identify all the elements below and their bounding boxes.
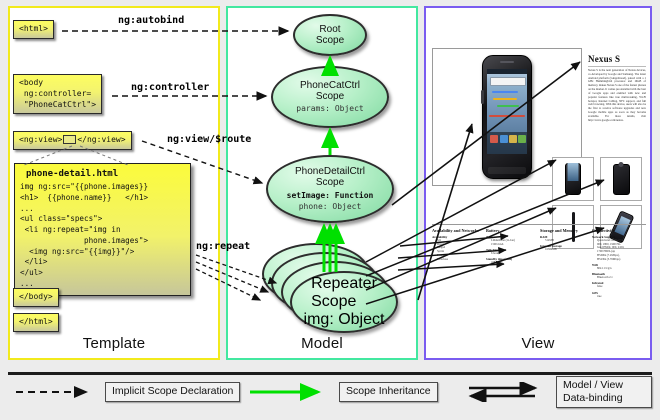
tag-ngview-open: <ng:view> <box>19 135 62 144</box>
phone-app-icon-3 <box>509 135 517 143</box>
specs-heading: Storage and Memory <box>540 228 592 233</box>
phone-status-bar <box>487 69 527 74</box>
phone-app-icon-4 <box>518 135 526 143</box>
specs-value: HSUPA (5.76Mbps) <box>592 258 646 262</box>
edge-label-ng-repeat: ng:repeat <box>196 241 250 252</box>
template-file-note: phone-detail.html img ng:src="{{phone.im… <box>14 163 191 296</box>
edge-label-ng-view-route: ng:view/$route <box>167 134 251 145</box>
phone-wallpaper-line-3 <box>497 105 519 107</box>
scope-phonedetailctrl: PhoneDetailCtrlScope setImage: Function … <box>266 155 394 223</box>
legend: Implicit Scope Declaration Scope Inherit… <box>8 381 652 407</box>
specs-value: 1500 mAh <box>486 243 538 247</box>
legend-label-scope-inheritance: Scope Inheritance <box>339 382 438 401</box>
legend-label-data-binding: Model / View Data-binding <box>556 376 652 408</box>
scope-phonecatctrl: PhoneCatCtrlScope params: Object <box>271 66 389 128</box>
phone-hardware-keys <box>488 167 526 174</box>
legend-item-implicit-scope: Implicit Scope Declaration <box>12 381 240 403</box>
diagram-canvas: Template Model View <html> <body ng:cont… <box>0 0 660 420</box>
phone-screen <box>487 69 527 154</box>
specs-heading: Availability and Networks <box>432 228 484 233</box>
view-specs-table: Availability and Networks Availability M… <box>432 228 646 338</box>
phone-device-illustration <box>482 55 532 179</box>
specs-value: true <box>592 295 646 299</box>
template-file-code: img ng:src="{{phone.images}} <h1> {{phon… <box>20 182 185 290</box>
view-title-divider <box>588 66 646 67</box>
legend-dashed-arrow-icon <box>12 382 98 402</box>
scope-phonedetailctrl-prop-setimage: setImage: Function <box>287 191 374 201</box>
legend-item-scope-inheritance: Scope Inheritance <box>246 381 438 403</box>
scope-repeater: RepeaterScope img: Object <box>290 271 398 333</box>
legend-solid-green-arrow-icon <box>246 382 332 402</box>
view-rendered-page: Nexus S Nexus S is the next generation o… <box>432 14 646 344</box>
thumbnail-back-icon <box>613 164 630 195</box>
legend-divider <box>8 372 652 375</box>
phone-search-widget <box>490 77 526 86</box>
scope-root: RootScope <box>293 14 367 56</box>
specs-column-storage: Storage and Memory RAM 512MB Internal St… <box>540 228 592 252</box>
specs-value: 428 hours <box>486 261 538 265</box>
legend-item-data-binding: Model / View Data-binding <box>463 381 652 403</box>
specs-divider <box>432 224 646 225</box>
edge-label-ng-controller: ng:controller <box>131 82 209 93</box>
column-label-template: Template <box>10 335 218 352</box>
scope-repeater-stack: RepeaterScope img: Object <box>262 243 398 339</box>
thumbnail-front-icon <box>565 163 581 195</box>
specs-value: false <box>592 285 646 289</box>
phone-app-dock <box>487 132 527 154</box>
legend-double-arrow-icon <box>463 382 549 402</box>
phone-wallpaper-line-4 <box>489 115 525 117</box>
scope-phonedetailctrl-prop-phone: phone: Object <box>299 202 362 212</box>
tag-body-close: </body> <box>13 288 59 307</box>
tag-html-close: </html> <box>13 313 59 332</box>
scope-phonecatctrl-label: PhoneCatCtrlScope <box>300 80 360 102</box>
phone-app-icon-1 <box>490 135 498 143</box>
scope-phonedetailctrl-label: PhoneDetailCtrlScope <box>295 166 365 188</box>
phone-speaker-icon <box>500 61 514 63</box>
scope-repeater-prop-img: img: Object <box>304 311 385 329</box>
view-phone-title: Nexus S <box>588 54 620 64</box>
tag-ngview-close: </ng:view> <box>77 135 125 144</box>
ngview-slot-icon <box>63 135 76 144</box>
specs-value: 16384MB <box>540 248 592 252</box>
phone-side-button <box>481 90 484 104</box>
view-phone-description: Nexus S is the next generation of Nexus … <box>588 69 646 123</box>
specs-value: Bluetooth 2.1 <box>592 276 646 280</box>
tag-body-open: <body ng:controller= "PhoneCatCtrl"> <box>13 74 102 114</box>
scope-repeater-label: RepeaterScope <box>311 275 377 311</box>
scope-phonecatctrl-prop-params: params: Object <box>296 104 363 114</box>
tag-html-open: <html> <box>13 20 54 39</box>
template-file-name: phone-detail.html <box>26 169 185 179</box>
scope-root-label: RootScope <box>316 24 344 46</box>
specs-column-connectivity: Connectivity Network Support Quad-band G… <box>592 228 646 298</box>
specs-value: 802.11 b/g/n <box>592 267 646 271</box>
specs-heading: Battery <box>486 228 538 233</box>
specs-heading: Connectivity <box>592 228 646 233</box>
specs-column-battery: Battery Type Lithium Ion (Li-Ion) 1500 m… <box>486 228 538 265</box>
specs-value: Vodafone <box>432 258 484 262</box>
specs-value: 6 hours <box>486 252 538 256</box>
legend-label-implicit-scope: Implicit Scope Declaration <box>105 382 240 401</box>
view-thumbnail-phone-back[interactable] <box>600 157 642 201</box>
view-thumbnail-phone-front[interactable] <box>552 157 594 201</box>
edge-label-ng-autobind: ng:autobind <box>118 15 184 26</box>
phone-app-icon-2 <box>500 135 508 143</box>
specs-column-availability: Availability and Networks Availability M… <box>432 228 484 261</box>
specs-value: 512MB <box>540 239 592 243</box>
tag-ngview: <ng:view></ng:view> <box>13 131 132 150</box>
phone-wallpaper-line-1 <box>492 91 518 93</box>
phone-wallpaper-line-2 <box>493 98 517 100</box>
